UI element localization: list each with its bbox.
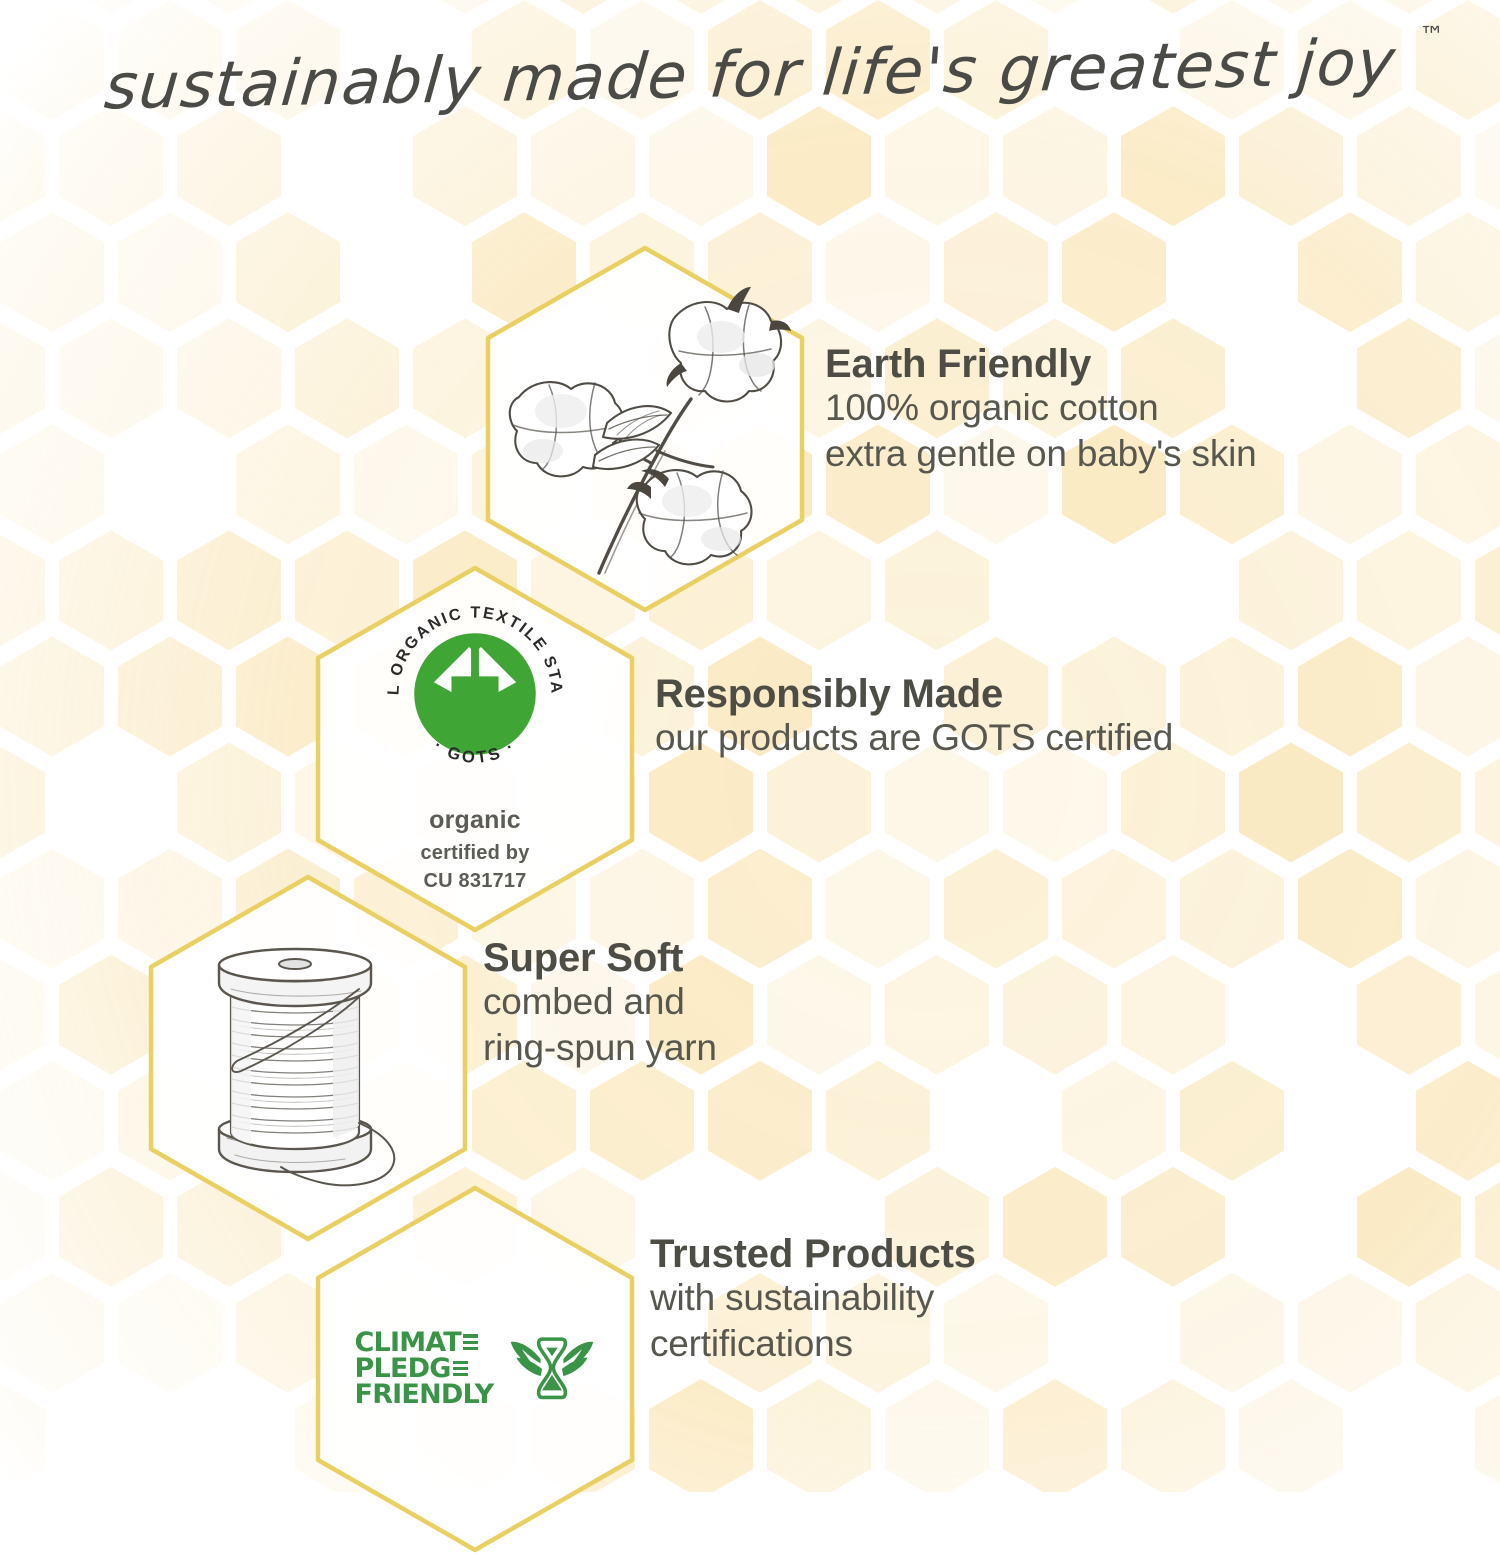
feature-text-block: Super Soft combed and ring-spun yarn xyxy=(483,937,717,1071)
feature-line: extra gentle on baby's skin xyxy=(825,431,1257,477)
feature-text-block: Earth Friendly 100% organic cotton extra… xyxy=(825,343,1257,477)
cpf-bars-icon xyxy=(463,1334,478,1350)
feature-text-block: Trusted Products with sustainability cer… xyxy=(650,1233,976,1367)
hexagon-content: CLIMAT PLEDG FRIENDLY xyxy=(310,1183,640,1555)
tagline-headline: sustainably made for life's greatest joy… xyxy=(101,26,1398,124)
winged-hourglass-icon xyxy=(509,1332,595,1406)
climate-pledge-wordmark: CLIMAT PLEDG FRIENDLY xyxy=(355,1330,494,1409)
cpf-bars-icon xyxy=(453,1361,468,1377)
gots-certification-logo: GLOBAL ORGANIC TEXTILE STANDARD · GOTS ·… xyxy=(377,596,573,894)
cpf-line-3: FRIENDLY xyxy=(355,1382,494,1408)
feature-title: Earth Friendly xyxy=(825,343,1257,385)
feature-text-block: Responsibly Made our products are GOTS c… xyxy=(655,673,1173,761)
feature-title: Trusted Products xyxy=(650,1233,976,1275)
climate-pledge-friendly-logo: CLIMAT PLEDG FRIENDLY xyxy=(355,1330,596,1409)
feature-title: Responsibly Made xyxy=(655,673,1173,715)
gots-seal-icon: GLOBAL ORGANIC TEXTILE STANDARD · GOTS · xyxy=(377,596,573,792)
headline-container: sustainably made for life's greatest joy… xyxy=(0,38,1500,111)
thread-spool-illustration xyxy=(183,923,433,1193)
feature-line: certifications xyxy=(650,1321,976,1367)
feature-line: combed and xyxy=(483,979,717,1025)
cpf-line-1: CLIMAT xyxy=(355,1330,478,1356)
cpf-word-climate: CLIMAT xyxy=(355,1330,461,1356)
trademark-symbol: ™ xyxy=(1419,21,1445,50)
feature-line: our products are GOTS certified xyxy=(655,715,1173,761)
feature-line: ring-spun yarn xyxy=(483,1025,717,1071)
feature-line: with sustainability xyxy=(650,1275,976,1321)
hexagon-content xyxy=(480,243,810,615)
cpf-word-friendly: FRIENDLY xyxy=(355,1382,494,1408)
cotton-branch-illustration xyxy=(499,273,791,585)
feature-line: 100% organic cotton xyxy=(825,385,1257,431)
gots-organic-label: organic xyxy=(429,806,521,835)
gots-certified-by-label: certified by xyxy=(420,841,529,867)
tagline-text: sustainably made for life's greatest joy xyxy=(101,26,1398,124)
feature-title: Super Soft xyxy=(483,937,717,979)
